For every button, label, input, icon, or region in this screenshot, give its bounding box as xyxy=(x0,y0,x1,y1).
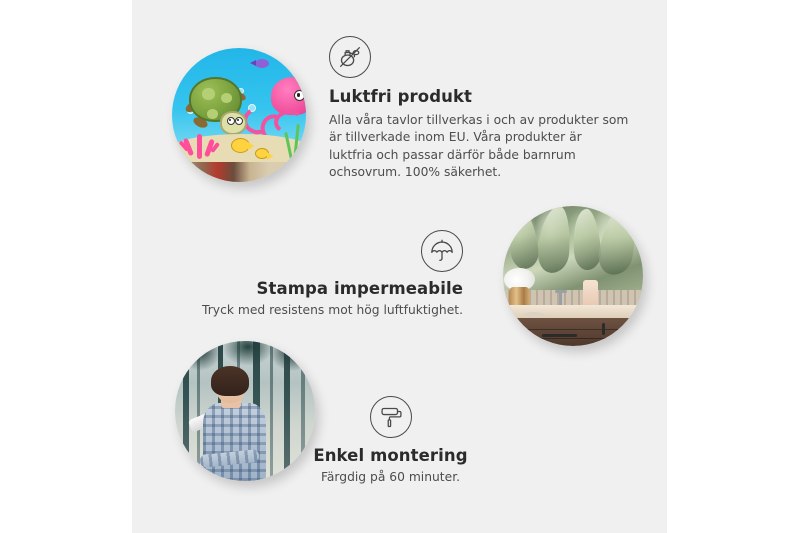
icon-wrapper xyxy=(150,230,463,272)
feature-title: Enkel montering xyxy=(268,446,513,465)
infographic-canvas: Luktfri produkt Alla våra tavlor tillver… xyxy=(0,0,800,533)
leaf-shape xyxy=(505,208,541,270)
umbrella-icon xyxy=(421,230,463,272)
yellow-fish-icon xyxy=(255,148,269,159)
coral-icon xyxy=(180,119,220,159)
paint-roller-icon xyxy=(370,396,412,438)
feature-title: Luktfri produkt xyxy=(329,87,629,106)
leaf-shape xyxy=(570,208,602,271)
drawer-handle xyxy=(542,334,578,337)
feature-waterproof: Stampa impermeabile Tryck med resistens … xyxy=(150,230,463,319)
feature-assembly: Enkel montering Färgdig på 60 minuter. xyxy=(268,396,513,486)
underwater-scene xyxy=(172,48,306,182)
feature-body: Alla våra tavlor tillverkas i och av pro… xyxy=(329,112,629,182)
wooden-vanity xyxy=(511,318,643,346)
turtle-eye xyxy=(235,117,243,125)
sea-bottom-strip xyxy=(172,162,306,182)
turtle-eye xyxy=(227,117,235,125)
no-fragrance-icon xyxy=(329,36,371,78)
cabinet-handle xyxy=(632,323,635,335)
feature-body: Färgdig på 60 minuter. xyxy=(268,469,513,486)
feature-odourless: Luktfri produkt Alla våra tavlor tillver… xyxy=(329,36,629,182)
octopus-eye xyxy=(294,90,305,101)
purple-fish-icon xyxy=(255,59,269,68)
cabinet-handle xyxy=(602,323,605,335)
yellow-fish-icon xyxy=(231,138,250,153)
bathroom-leaf-wallpaper-photo xyxy=(503,206,643,346)
woman-hair xyxy=(211,366,249,395)
turtle-head xyxy=(220,111,247,135)
feature-title: Stampa impermeabile xyxy=(150,279,463,298)
icon-wrapper xyxy=(268,396,513,438)
feature-body: Tryck med resistens mot hög luftfuktighe… xyxy=(150,302,463,319)
bathroom-scene xyxy=(503,206,643,346)
underwater-kids-mural-photo xyxy=(172,48,306,182)
leaf-shape xyxy=(596,206,640,277)
tree-trunk xyxy=(183,341,189,481)
leaf-shape xyxy=(537,206,572,274)
woman-torso xyxy=(203,403,266,481)
